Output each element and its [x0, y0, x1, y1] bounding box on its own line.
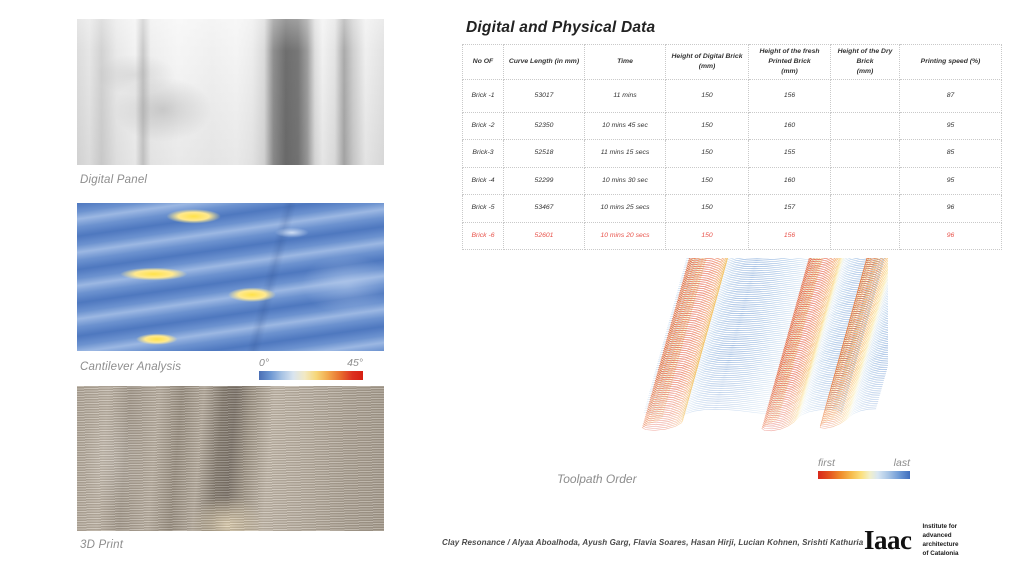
- table-row: Brick -25235010 mins 45 sec15016095: [463, 112, 1002, 140]
- 3d-print-caption: 3D Print: [80, 539, 123, 551]
- table-cell: [831, 79, 900, 112]
- table-header-line: Brick: [832, 57, 898, 67]
- table-row: Brick -55346710 mins 25 secs15015796: [463, 195, 1002, 223]
- iaac-wordmark: Iaac: [864, 527, 912, 554]
- table-cell: 10 mins 20 secs: [585, 222, 666, 250]
- toolpath-legend-labels: first last: [818, 457, 910, 469]
- cantilever-legend-max-label: 45°: [347, 357, 363, 369]
- toolpath-legend: first last: [818, 457, 910, 479]
- table-cell: 53467: [504, 195, 585, 223]
- table-header-cell: Curve Length (in mm): [504, 45, 585, 80]
- table-cell: 160: [749, 167, 831, 195]
- table-cell: Brick -5: [463, 195, 504, 223]
- table-header-cell: Height of Digital Brick(mm): [666, 45, 749, 80]
- table-header-line: Height of Digital Brick: [667, 52, 747, 62]
- table-header-cell: Height of the DryBrick(mm): [831, 45, 900, 80]
- table-header-line: Printed Brick: [750, 57, 829, 67]
- table-cell: 96: [900, 222, 1002, 250]
- cantilever-analysis-render: [77, 203, 384, 351]
- table-cell: [831, 140, 900, 168]
- iaac-tagline-line: Institute for: [923, 523, 959, 532]
- table-cell: 87: [900, 79, 1002, 112]
- table-row: Brick -45229910 mins 30 sec15016095: [463, 167, 1002, 195]
- table-body: Brick -15301711 mins15015687Brick -25235…: [463, 79, 1002, 250]
- table-header-line: (mm): [667, 62, 747, 72]
- table-header-line: (mm): [750, 67, 829, 77]
- table-header-line: Printing speed (%): [901, 57, 1000, 67]
- table-cell: 156: [749, 222, 831, 250]
- table-cell: Brick -2: [463, 112, 504, 140]
- table-cell: 150: [666, 140, 749, 168]
- table-header-cell: Time: [585, 45, 666, 80]
- table-row: Brick-35251811 mins 15 secs15015585: [463, 140, 1002, 168]
- table-header-row: No OF Curve Length (in mm) Time Height o…: [463, 45, 1002, 80]
- cantilever-colorbar: [259, 371, 363, 380]
- table-cell: 96: [900, 195, 1002, 223]
- toolpath-colorbar: [818, 471, 910, 479]
- table-cell: 53017: [504, 79, 585, 112]
- table-cell: 85: [900, 140, 1002, 168]
- cantilever-analysis-caption: Cantilever Analysis: [80, 361, 181, 373]
- table-cell: 10 mins 45 sec: [585, 112, 666, 140]
- toolpath-caption: Toolpath Order: [557, 472, 637, 486]
- toolpath-contour: [689, 258, 889, 264]
- table-cell: 95: [900, 167, 1002, 195]
- table-cell: [831, 167, 900, 195]
- table-cell: Brick -4: [463, 167, 504, 195]
- table-cell: Brick -6: [463, 222, 504, 250]
- table-cell: 156: [749, 79, 831, 112]
- table-header-cell: No OF: [463, 45, 504, 80]
- table-cell: 10 mins 25 secs: [585, 195, 666, 223]
- iaac-logo: Iaac Institute foradvancedarchitectureof…: [864, 523, 959, 559]
- toolpath-layer-group: [642, 258, 888, 431]
- table-header-line: Time: [586, 57, 664, 67]
- digital-panel-render: [77, 19, 384, 165]
- table-header-line: No OF: [464, 57, 502, 67]
- table-header-cell: Height of the freshPrinted Brick(mm): [749, 45, 831, 80]
- table-cell: [831, 195, 900, 223]
- table-cell: 160: [749, 112, 831, 140]
- table-cell: 150: [666, 167, 749, 195]
- table-cell: 95: [900, 112, 1002, 140]
- table-cell: 52350: [504, 112, 585, 140]
- table-cell: 157: [749, 195, 831, 223]
- table-header-line: Curve Length (in mm): [505, 57, 583, 67]
- cantilever-legend: 0° 45°: [259, 357, 363, 380]
- toolpath-legend-first-label: first: [818, 457, 835, 469]
- table-header-line: Height of the fresh: [750, 47, 829, 57]
- table-header: No OF Curve Length (in mm) Time Height o…: [463, 45, 1002, 80]
- table-cell: 150: [666, 195, 749, 223]
- table-cell: 11 mins 15 secs: [585, 140, 666, 168]
- table-header-cell: Printing speed (%): [900, 45, 1002, 80]
- table-cell: 52518: [504, 140, 585, 168]
- table-row: Brick -65260110 mins 20 secs15015696: [463, 222, 1002, 250]
- iaac-tagline-line: advanced: [923, 532, 959, 541]
- page-title: Digital and Physical Data: [466, 19, 655, 37]
- table-cell: 52601: [504, 222, 585, 250]
- table-cell: 150: [666, 79, 749, 112]
- toolpath-wireframe-svg: [600, 258, 888, 458]
- table-header-line: Height of the Dry: [832, 47, 898, 57]
- table-header-line: (mm): [832, 67, 898, 77]
- table-cell: 52299: [504, 167, 585, 195]
- toolpath-legend-last-label: last: [894, 457, 910, 469]
- table-cell: 150: [666, 112, 749, 140]
- toolpath-contour: [667, 320, 888, 342]
- table-cell: Brick -1: [463, 79, 504, 112]
- iaac-tagline-line: of Catalonia: [923, 550, 959, 559]
- iaac-tagline-line: architecture: [923, 541, 959, 550]
- cantilever-legend-labels: 0° 45°: [259, 357, 363, 369]
- table-cell: 10 mins 30 sec: [585, 167, 666, 195]
- table-cell: [831, 222, 900, 250]
- credits-line: Clay Resonance / Alyaa Aboalhoda, Ayush …: [442, 538, 863, 547]
- digital-panel-caption: Digital Panel: [80, 174, 147, 186]
- 3d-print-photo: [77, 386, 384, 531]
- digital-physical-data-table: No OF Curve Length (in mm) Time Height o…: [462, 44, 1002, 250]
- toolpath-3d-visualization: [600, 258, 888, 458]
- table-cell: Brick-3: [463, 140, 504, 168]
- iaac-tagline: Institute foradvancedarchitectureof Cata…: [921, 523, 959, 559]
- table-row: Brick -15301711 mins15015687: [463, 79, 1002, 112]
- table-cell: 155: [749, 140, 831, 168]
- slide-canvas: Digital Panel Cantilever Analysis 0° 45°…: [0, 0, 1024, 576]
- table-cell: 150: [666, 222, 749, 250]
- table-cell: 11 mins: [585, 79, 666, 112]
- table-cell: [831, 112, 900, 140]
- cantilever-legend-min-label: 0°: [259, 357, 269, 369]
